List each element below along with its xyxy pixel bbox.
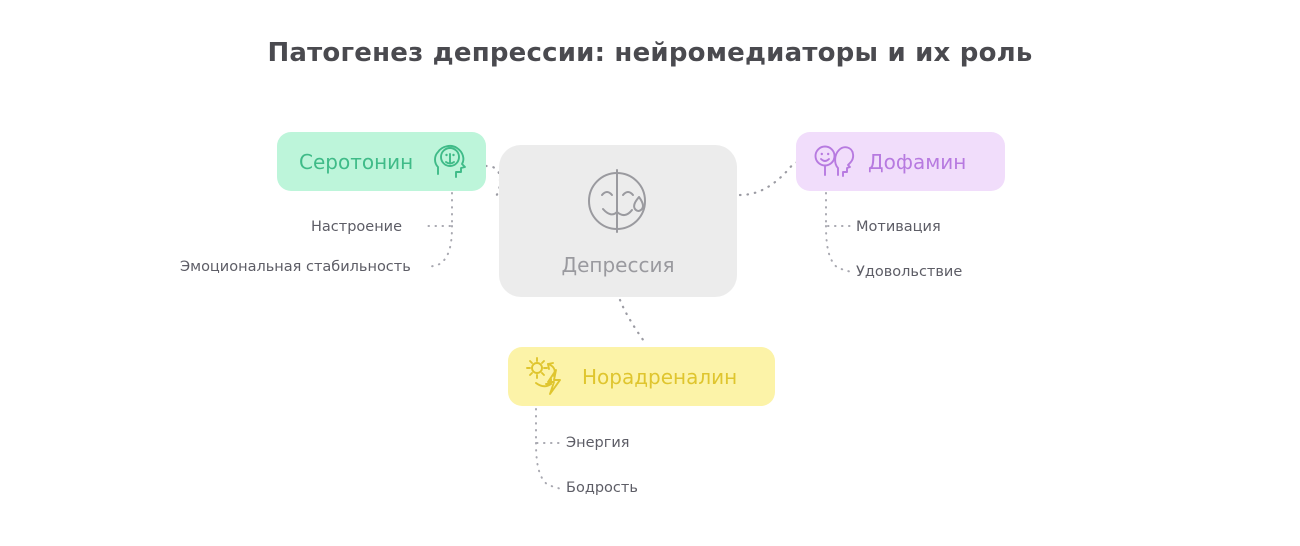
connector-center-dopamine bbox=[740, 162, 798, 195]
sub-label-cheerfulness: Бодрость bbox=[566, 480, 638, 496]
head-profile-face-icon bbox=[432, 143, 468, 181]
node-dopamine-label: Дофамин bbox=[868, 150, 966, 174]
connector-noradrenalin-cheer bbox=[536, 443, 561, 489]
split-face-sad-happy-icon bbox=[581, 165, 655, 239]
connector-dopamine-motivation bbox=[826, 193, 851, 226]
node-serotonin-label: Серотонин bbox=[299, 150, 413, 174]
connector-noradrenalin-energy bbox=[536, 409, 561, 443]
node-noradrenalin[interactable]: Норадреналин bbox=[508, 347, 775, 406]
node-serotonin[interactable]: Серотонин bbox=[277, 132, 486, 191]
node-noradrenalin-label: Норадреналин bbox=[582, 365, 737, 389]
node-dopamine[interactable]: Дофамин bbox=[796, 132, 1005, 191]
node-depression[interactable]: Депрессия bbox=[499, 145, 737, 297]
diagram-canvas: Патогенез депрессии: нейромедиаторы и их… bbox=[0, 0, 1300, 546]
sub-label-energy: Энергия bbox=[566, 435, 630, 451]
sun-arrows-lightning-icon bbox=[524, 356, 570, 398]
sub-label-pleasure: Удовольствие bbox=[856, 264, 962, 280]
sub-label-motivation: Мотивация bbox=[856, 219, 941, 235]
connector-center-noradrenalin bbox=[620, 300, 646, 344]
connector-serotonin-mood bbox=[424, 193, 452, 226]
connector-dopamine-pleasure bbox=[826, 226, 851, 272]
sub-label-mood: Настроение bbox=[311, 219, 402, 235]
smiley-head-profile-icon bbox=[812, 143, 856, 181]
sub-label-emotional-stability: Эмоциональная стабильность bbox=[180, 259, 411, 275]
node-depression-label: Депрессия bbox=[561, 253, 674, 277]
connector-center-serotonin bbox=[486, 166, 500, 199]
connector-serotonin-emotional bbox=[426, 226, 452, 268]
